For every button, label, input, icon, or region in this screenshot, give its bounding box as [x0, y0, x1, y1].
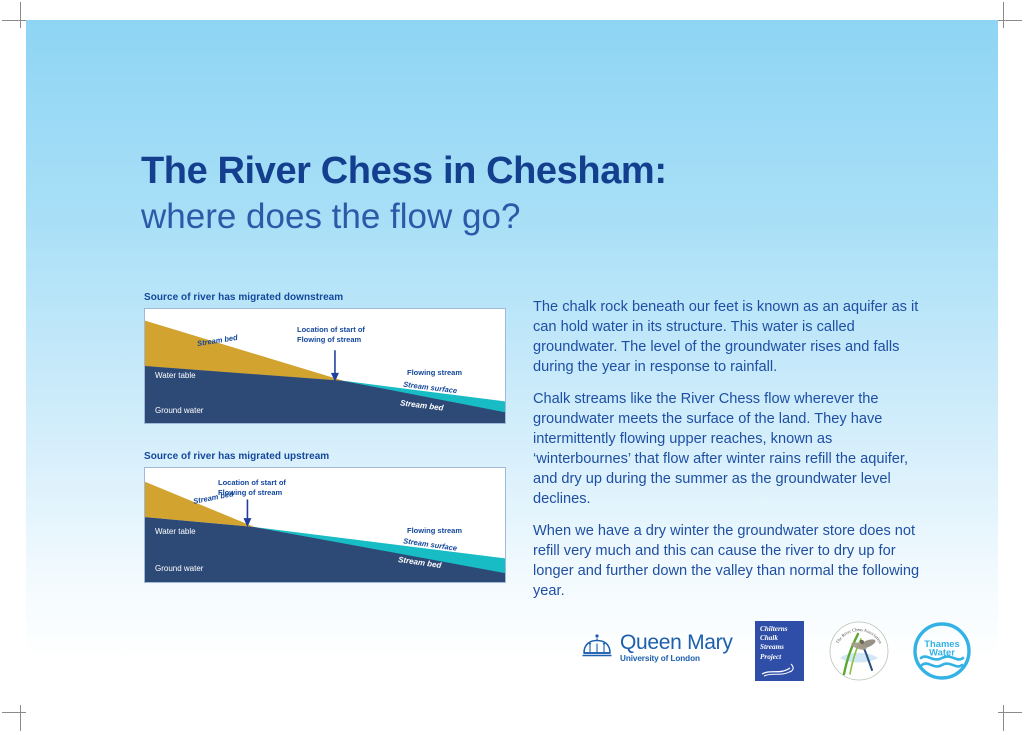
- body-paragraph-1: The chalk rock beneath our feet is known…: [533, 298, 923, 377]
- crop-mark-top-right: [996, 2, 1022, 28]
- crop-mark-top-left: [2, 2, 28, 28]
- thames-water-emblem: Thames Water: [913, 622, 971, 680]
- logo-thames-water: Thames Water: [913, 622, 971, 680]
- body-paragraph-3: When we have a dry winter the groundwate…: [533, 522, 923, 601]
- diagram-migrated-upstream: Source of river has migrated upstream St…: [144, 451, 506, 583]
- poster-page: The River Chess in Chesham: where does t…: [0, 0, 1024, 735]
- stream-swirl-icon: [760, 663, 798, 677]
- logo-chilterns-line1: Chilterns: [760, 625, 799, 634]
- poster-artboard: The River Chess in Chesham: where does t…: [26, 20, 998, 716]
- body-copy: The chalk rock beneath our feet is known…: [533, 298, 923, 602]
- diagram-graphic: [145, 468, 505, 582]
- title-subtitle: where does the flow go?: [141, 197, 667, 236]
- diagram-canvas: Stream bed Water table Ground water Loca…: [144, 467, 506, 583]
- river-chess-association-emblem: The River Chess Association: [828, 620, 890, 682]
- diagram-canvas: Stream bed Water table Ground water Loca…: [144, 308, 506, 424]
- diagram-title: Source of river has migrated downstream: [144, 292, 506, 303]
- logo-chilterns-line4: Project: [760, 653, 799, 662]
- page-title: The River Chess in Chesham: where does t…: [141, 152, 667, 236]
- body-paragraph-2: Chalk streams like the River Chess flow …: [533, 390, 923, 509]
- diagram-graphic: [145, 309, 505, 423]
- crop-mark-bottom-left: [2, 705, 28, 731]
- crop-mark-bottom-right: [996, 705, 1022, 731]
- logo-thames-water-line2: Water: [929, 647, 955, 658]
- logo-strip: Queen Mary University of London Chiltern…: [556, 616, 976, 696]
- logo-chilterns-line3: Streams: [760, 643, 799, 652]
- logo-chilterns-line2: Chalk: [760, 634, 799, 643]
- diagram-migrated-downstream: Source of river has migrated downstream: [144, 292, 506, 424]
- logo-queen-mary-name: Queen Mary: [620, 631, 733, 654]
- logo-river-chess-association: The River Chess Association: [828, 620, 890, 682]
- logo-queen-mary-subtitle: University of London: [620, 655, 733, 663]
- logo-queen-mary: Queen Mary University of London: [581, 632, 733, 663]
- crown-icon: [581, 633, 613, 662]
- title-main: The River Chess in Chesham:: [141, 152, 667, 192]
- diagram-title: Source of river has migrated upstream: [144, 451, 506, 462]
- logo-chilterns-chalk-streams-project: Chilterns Chalk Streams Project: [755, 621, 804, 681]
